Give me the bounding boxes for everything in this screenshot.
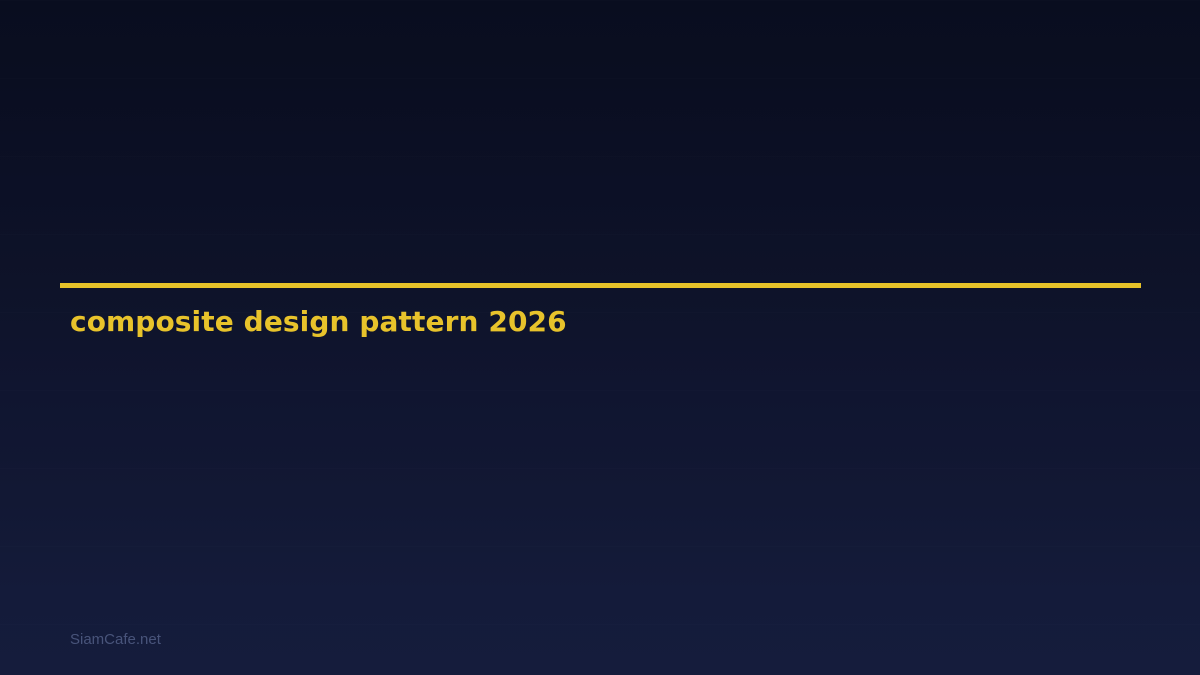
slide-canvas: composite design pattern 2026 SiamCafe.n… bbox=[0, 0, 1200, 675]
title-block: composite design pattern 2026 bbox=[60, 283, 1141, 288]
page-title: composite design pattern 2026 bbox=[70, 305, 567, 339]
gold-accent-rule bbox=[60, 283, 1141, 288]
footer-watermark: SiamCafe.net bbox=[70, 630, 161, 649]
